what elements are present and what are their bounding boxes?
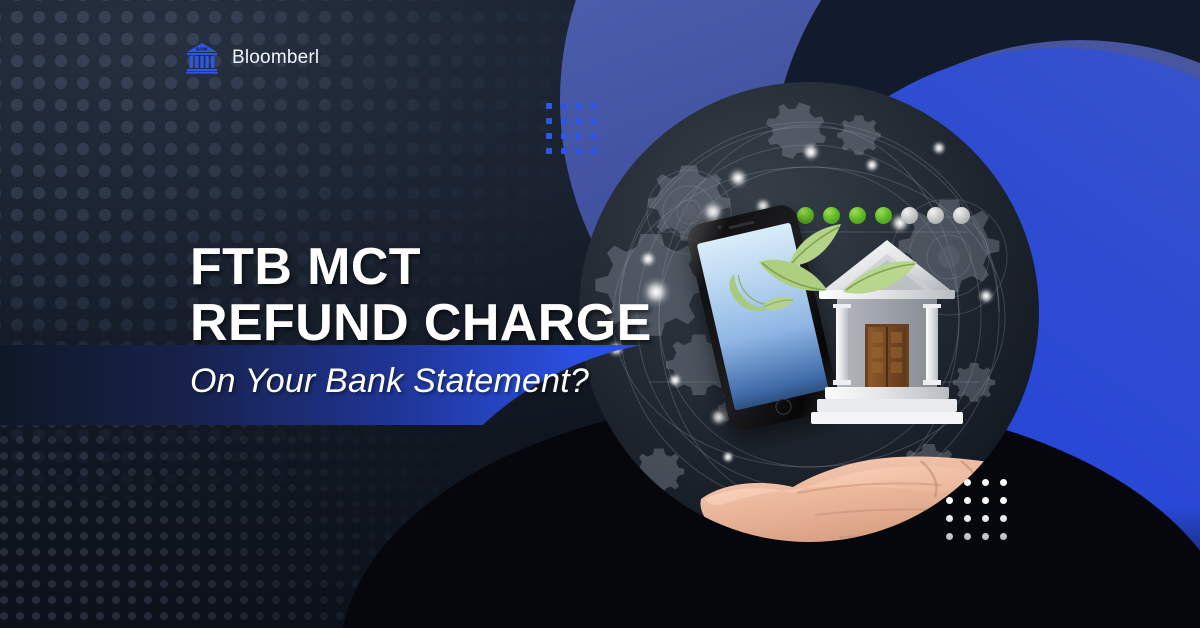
sparkle-icon	[667, 372, 683, 388]
status-dot-filled	[849, 207, 866, 224]
sparkle-icon	[864, 157, 880, 173]
bank-building-icon: BANK	[185, 41, 219, 75]
dot	[576, 118, 582, 124]
dot	[576, 133, 582, 139]
dot	[561, 133, 567, 139]
phone-home-button-icon	[774, 397, 793, 416]
status-dot-empty	[901, 207, 918, 224]
sparkle-icon	[727, 167, 749, 189]
dot	[591, 148, 597, 154]
dot	[546, 118, 552, 124]
sparkle-icon	[801, 142, 821, 162]
brand-logo[interactable]: BANK Bloomberl	[185, 41, 319, 75]
phone-speaker-icon	[729, 221, 755, 230]
dot	[546, 148, 552, 154]
phone-camera-icon	[717, 225, 722, 230]
dot	[561, 103, 567, 109]
logo-icon-label: BANK	[196, 46, 208, 51]
brand-name: Bloomberl	[232, 47, 319, 69]
illustration-area	[580, 0, 1200, 628]
banner-root: BANK Bloomberl FTB MCT REFUND CHARGE On …	[0, 0, 1200, 628]
dot	[546, 103, 552, 109]
dot-grid-blue	[546, 103, 597, 154]
page-subtitle: On Your Bank Statement?	[190, 362, 589, 401]
sparkle-icon	[931, 140, 947, 156]
dot	[561, 118, 567, 124]
hand-palm-icon	[689, 437, 1039, 542]
sparkle-icon	[977, 287, 995, 305]
dot	[546, 133, 552, 139]
status-dot-filled	[875, 207, 892, 224]
dot	[576, 148, 582, 154]
dot	[561, 148, 567, 154]
leaf-icon	[841, 254, 919, 298]
headline-block: FTB MCT REFUND CHARGE	[190, 240, 652, 351]
dot	[576, 103, 582, 109]
status-dot-empty	[927, 207, 944, 224]
leaf-icon	[757, 250, 829, 296]
page-title: FTB MCT REFUND CHARGE	[190, 240, 652, 351]
dot	[591, 118, 597, 124]
dot	[591, 103, 597, 109]
status-dot-empty	[953, 207, 970, 224]
dot	[591, 133, 597, 139]
